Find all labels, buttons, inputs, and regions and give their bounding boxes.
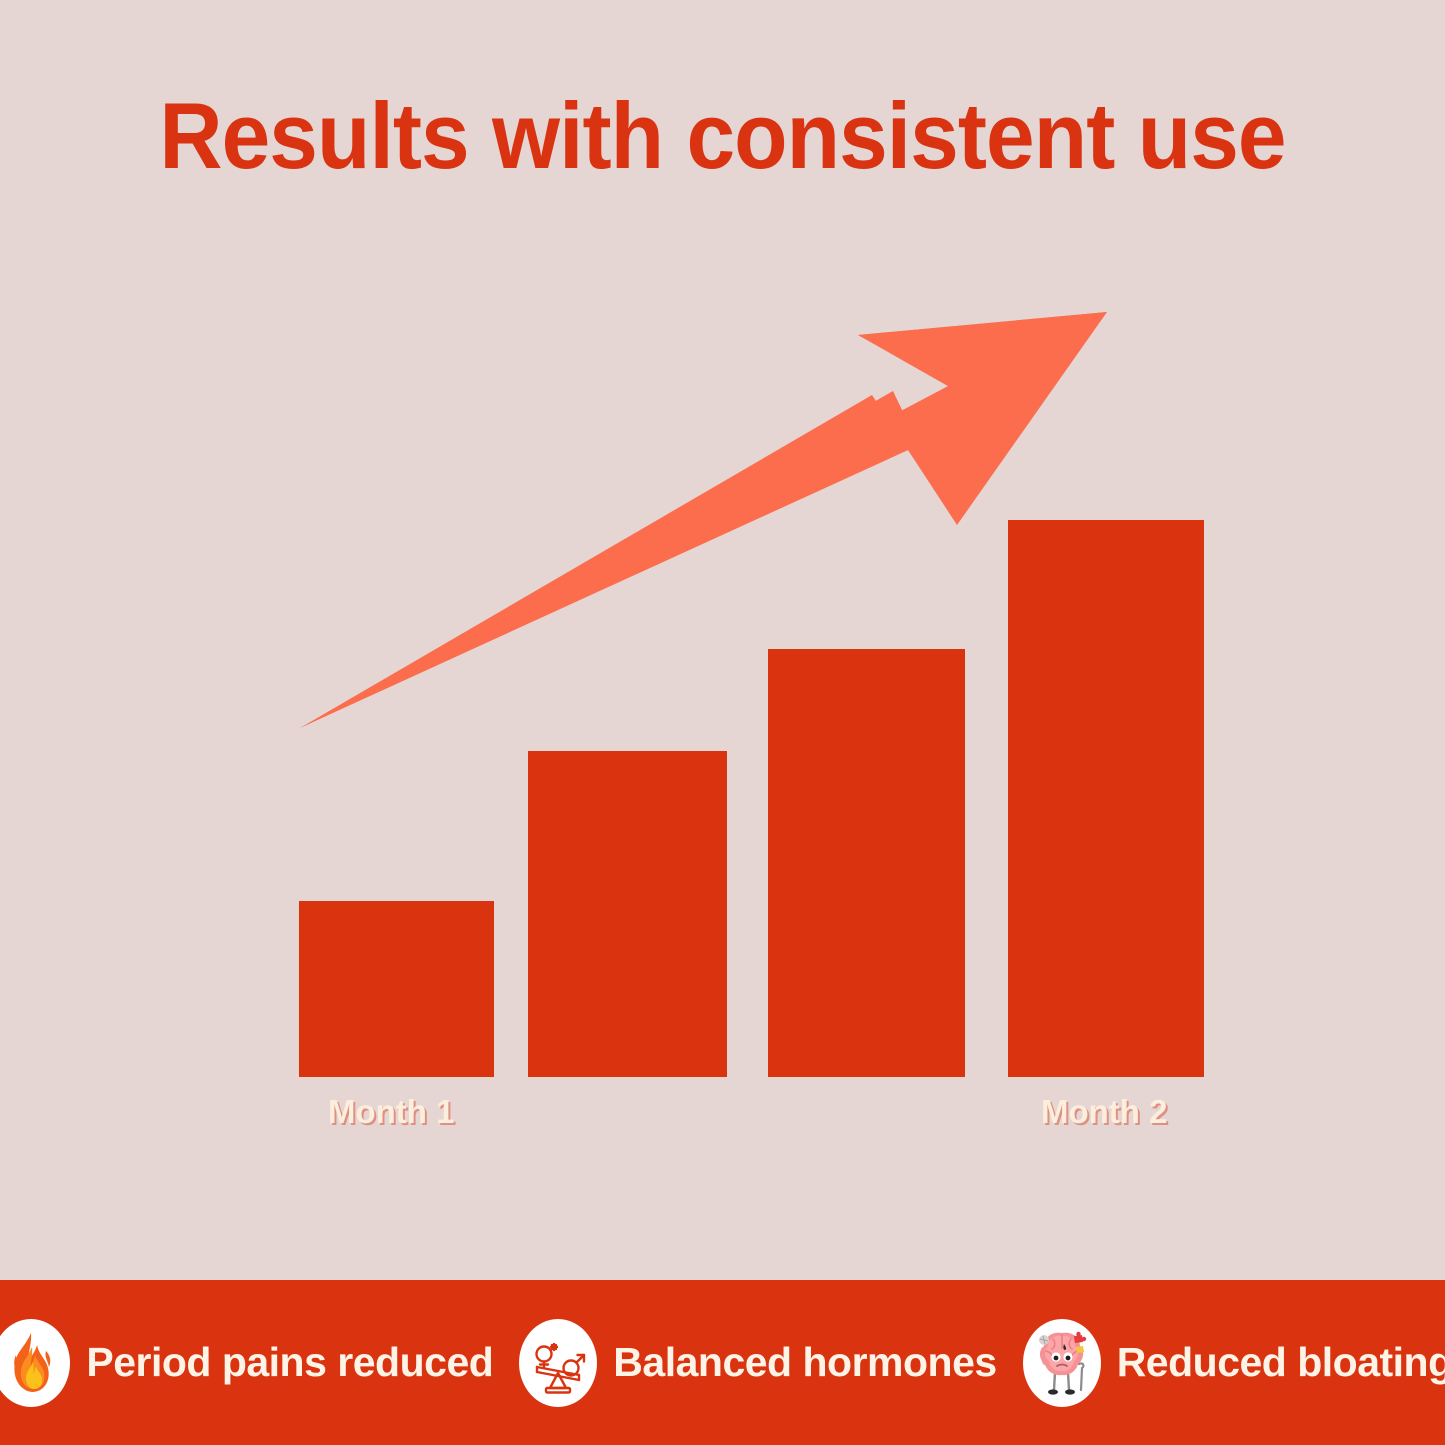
- balance-scale-gender-icon: [519, 1319, 597, 1407]
- benefit-item-period-pains: Period pains reduced: [0, 1319, 506, 1407]
- results-poster: Results with consistent use Month 1 Mont…: [0, 0, 1445, 1445]
- fire-icon: [0, 1319, 70, 1407]
- benefit-label-balanced-hormones: Balanced hormones: [613, 1339, 996, 1386]
- benefit-item-reduced-bloating: Reduced bloating: [1010, 1319, 1445, 1407]
- bar-2: [528, 751, 727, 1077]
- x-axis-label-month-2: Month 2: [1041, 1093, 1167, 1131]
- brain-character-icon: [1023, 1319, 1101, 1407]
- bar-month-2: [1008, 520, 1204, 1077]
- benefit-label-period-pains: Period pains reduced: [86, 1339, 493, 1386]
- bar-month-1: [299, 901, 494, 1077]
- bar-3: [768, 649, 965, 1077]
- growth-arrow-icon: [0, 0, 1445, 1280]
- x-axis-label-month-1: Month 1: [328, 1093, 454, 1131]
- benefit-item-balanced-hormones: Balanced hormones: [506, 1319, 1009, 1407]
- benefits-banner: Period pains reduced: [0, 1280, 1445, 1445]
- bar-chart: Month 1 Month 2: [0, 0, 1445, 1280]
- benefit-label-reduced-bloating: Reduced bloating: [1117, 1339, 1445, 1386]
